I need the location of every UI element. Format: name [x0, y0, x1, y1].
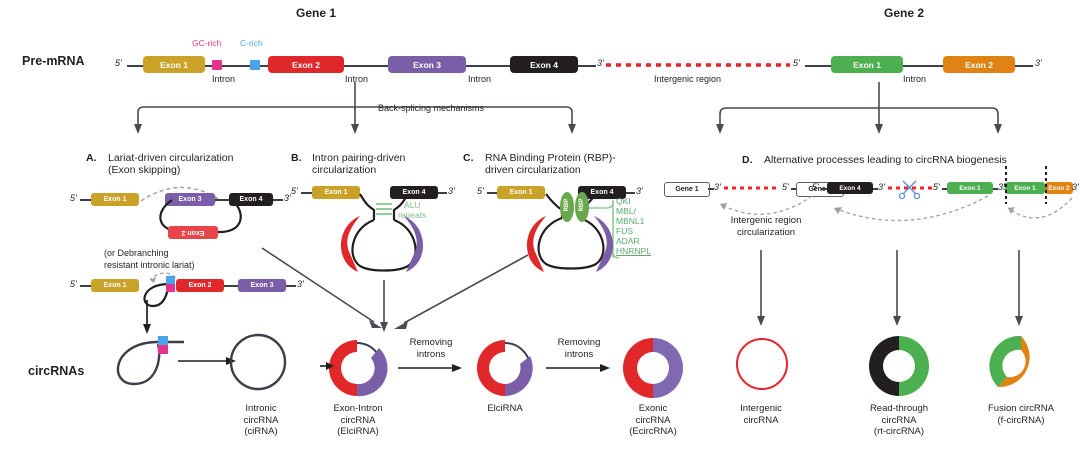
ecircrna-caption-l3: (EcircRNA): [600, 426, 706, 438]
ecircrna-product: [615, 334, 691, 402]
panel-d-gene1-box: Gene 1: [664, 182, 710, 197]
panel-c-line-1: [487, 192, 497, 194]
premrna-exon-3: Exon 3: [388, 56, 466, 73]
panel-d-exon-4: Exon 4: [827, 182, 873, 194]
backsplicing-label: Back-splicing mechanisms: [378, 103, 484, 113]
panel-a-title-line2: (Exon skipping): [108, 164, 180, 176]
premrna-backbone-5: [344, 65, 388, 67]
panel-d-sub1-note-l2: circularization: [707, 227, 825, 239]
intergenic-circrna-caption: Intergenic circRNA: [708, 403, 814, 426]
panel-c-3prime: 3': [636, 186, 643, 196]
panel-d-arrow-fusion: [1012, 250, 1026, 330]
premrna-3prime-gene2: 3': [1035, 58, 1042, 68]
removing-introns-label-1: Removing introns: [398, 337, 464, 360]
premrna-backbone-4: [260, 65, 268, 67]
ecircrna-caption: Exonic circRNA (EcircRNA): [600, 403, 706, 438]
rtcircrna-caption-l1: Read-through: [846, 403, 952, 415]
backsplicing-branch-arrows: [130, 82, 590, 140]
rtcircrna-caption-l3: (rt-circRNA): [846, 426, 952, 438]
panel-d-5prime-2: 5': [812, 182, 819, 192]
gene2-title: Gene 2: [884, 6, 924, 20]
panel-d-title: Alternative processes leading to circRNA…: [764, 154, 1007, 166]
panel-b-3prime: 3': [448, 186, 455, 196]
cirna-caption-l3: (ciRNA): [208, 426, 314, 438]
row-label-circrnas: circRNAs: [28, 364, 84, 378]
row-label-premrna: Pre-mRNA: [22, 54, 85, 68]
panel-d-3prime-1: 3': [714, 182, 721, 192]
fcircrna-product: [982, 332, 1060, 400]
panel-d-5prime-1: 5': [782, 182, 789, 192]
panel-c-title-line1: RNA Binding Protein (RBP)-: [485, 152, 616, 164]
panel-a-alt-exon-2: Exon 2: [176, 279, 224, 292]
panel-d-arrow-readthrough: [890, 250, 904, 330]
cirna-caption-l1: Intronic: [208, 403, 314, 415]
rbp-oval-left-label: RBP: [564, 191, 570, 219]
cirna-caption-l2: circRNA: [208, 415, 314, 427]
panel-a-down-arrow: [140, 300, 154, 336]
removing-introns-2-l1: Removing: [546, 337, 612, 349]
panel-a-title-line1: Lariat-driven circularization: [108, 152, 233, 164]
panel-b-to-product-arrow: [378, 280, 390, 336]
panel-b-letter: B.: [291, 152, 302, 164]
removing-introns-1-l2: introns: [398, 349, 464, 361]
panel-a-lariat-product: [100, 336, 190, 386]
intergenic-dotted-line: [606, 60, 792, 72]
panel-a-alt-5prime: 5': [70, 279, 77, 289]
elcirna-caption-l2: circRNA: [305, 415, 411, 427]
panel-c-letter: C.: [463, 152, 474, 164]
panel-b-title-line2: circularization: [312, 164, 376, 176]
premrna-backbone-1: [127, 65, 143, 67]
ecircrna-caption-l1: Exonic: [600, 403, 706, 415]
elcirna-caption-l1: Exon-Intron: [305, 403, 411, 415]
panel-a-line-1: [80, 199, 91, 201]
removing-introns-label-2: Removing introns: [546, 337, 612, 360]
c-rich-label: C-rich: [240, 38, 263, 48]
fcircrna-caption-l1: Fusion circRNA: [962, 403, 1080, 415]
ecircrna-caption-l2: circRNA: [600, 415, 706, 427]
gene2-branch-arrows: [700, 82, 1010, 140]
panel-a-product-c-marker: [158, 336, 168, 345]
premrna-5prime-gene1: 5': [115, 58, 122, 68]
rtcircrna-caption: Read-through circRNA (rt-circRNA): [846, 403, 952, 438]
panel-c-purple-arc: [586, 214, 626, 274]
rtcircrna-product: [860, 332, 938, 400]
rbp-item-0: QKI: [616, 196, 651, 206]
rbp-oval-right-label: RBP: [579, 191, 585, 219]
panel-d-arrow-intergenic: [754, 250, 768, 330]
premrna-backbone-6: [466, 65, 510, 67]
gene1-title: Gene 1: [296, 6, 336, 20]
panel-d-intergenic-dotted: [724, 184, 782, 194]
panel-d-letter: D.: [742, 154, 753, 166]
panel-a-alt-line-2: [224, 285, 238, 287]
panel-a-line-3: [273, 199, 283, 201]
intergenic-caption-l2: circRNA: [708, 415, 814, 427]
premrna-exon-2: Exon 2: [268, 56, 344, 73]
panel-d-exon-1-green: Exon 1: [947, 182, 993, 194]
panel-d-3prime-2: 3': [878, 182, 885, 192]
panel-c-5prime: 5': [477, 186, 484, 196]
panel-d-fusion-exon-2: Exon 2: [1045, 182, 1073, 194]
fcircrna-caption-l2: (f-circRNA): [962, 415, 1080, 427]
intergenic-circrna-product: [730, 335, 794, 395]
panel-b-5prime: 5': [291, 186, 298, 196]
panel-a-3prime: 3': [284, 193, 291, 203]
panel-a-product-gc-marker: [158, 345, 168, 354]
panel-d-sub1-note: Intergenic region circularization: [707, 215, 825, 238]
panel-d-5prime-3: 5': [933, 182, 940, 192]
panel-a-alt-line-1: [80, 285, 91, 287]
panel-d-sub2-dashed-arc: [824, 194, 994, 228]
removing-introns-2-l2: introns: [546, 349, 612, 361]
removing-introns-arrow-1: [398, 362, 466, 374]
premrna-3prime-gene1: 3': [597, 58, 604, 68]
premrna-backbone-8: [805, 65, 831, 67]
panel-a-lariat-exon-2: Exon 2: [168, 226, 218, 239]
fcircrna-caption: Fusion circRNA (f-circRNA): [962, 403, 1080, 426]
premrna-backbone-10: [1015, 65, 1033, 67]
panel-a-alt-c-marker: [166, 276, 175, 284]
gc-rich-label: GC-rich: [192, 38, 221, 48]
elcirna2-caption: ElciRNA: [452, 403, 558, 415]
elcirna-arrow-1: [320, 360, 336, 372]
rtcircrna-caption-l2: circRNA: [846, 415, 952, 427]
premrna-exon-1: Exon 1: [143, 56, 205, 73]
premrna-backbone-9: [903, 65, 943, 67]
elcirna2-caption-l1: ElciRNA: [452, 403, 558, 415]
panel-d-sub1-note-l1: Intergenic region: [707, 215, 825, 227]
panel-a-to-product-arrow: [262, 248, 392, 336]
elcirna-caption-l3: (ElciRNA): [305, 426, 411, 438]
removing-introns-1-l1: Removing: [398, 337, 464, 349]
alu-line1: ALU: [398, 200, 426, 210]
panel-d-sub3-dashed-arc: [1000, 196, 1078, 228]
panel-c-to-product-arrow: [390, 255, 530, 337]
panel-c-line-2: [626, 192, 635, 194]
panel-b-line-2: [438, 192, 447, 194]
c-rich-marker: [250, 60, 260, 70]
gc-rich-marker: [212, 60, 222, 70]
cirna-circle: [225, 332, 291, 394]
panel-d-3prime-4: 3': [1072, 182, 1079, 192]
premrna-exon-4: Exon 4: [510, 56, 578, 73]
panel-c-title-line2: driven circularization: [485, 164, 581, 176]
elcirna-caption: Exon-Intron circRNA (ElciRNA): [305, 403, 411, 438]
elcirna-product-2: [468, 336, 542, 402]
panel-a-letter: A.: [86, 152, 97, 164]
premrna-gene2-exon-2: Exon 2: [943, 56, 1015, 73]
panel-a-alt-line1: (or Debranching: [104, 248, 169, 258]
intergenic-caption-l1: Intergenic: [708, 403, 814, 415]
panel-b-title-line1: Intron pairing-driven: [312, 152, 405, 164]
panel-a-5prime: 5': [70, 193, 77, 203]
cirna-caption: Intronic circRNA (ciRNA): [208, 403, 314, 438]
removing-introns-arrow-2: [546, 362, 614, 374]
premrna-5prime-gene2: 5': [793, 58, 800, 68]
premrna-backbone-7: [578, 65, 596, 67]
premrna-backbone-3: [222, 65, 250, 67]
panel-b-line-1: [301, 192, 312, 194]
panel-d-fusion-exon-1: Exon 1: [1005, 182, 1045, 194]
panel-a-exon-1: Exon 1: [91, 193, 139, 206]
premrna-gene2-exon-1: Exon 1: [831, 56, 903, 73]
panel-a-alt-gc-marker: [166, 284, 175, 292]
panel-a-alt-exon-1: Exon 1: [91, 279, 139, 292]
